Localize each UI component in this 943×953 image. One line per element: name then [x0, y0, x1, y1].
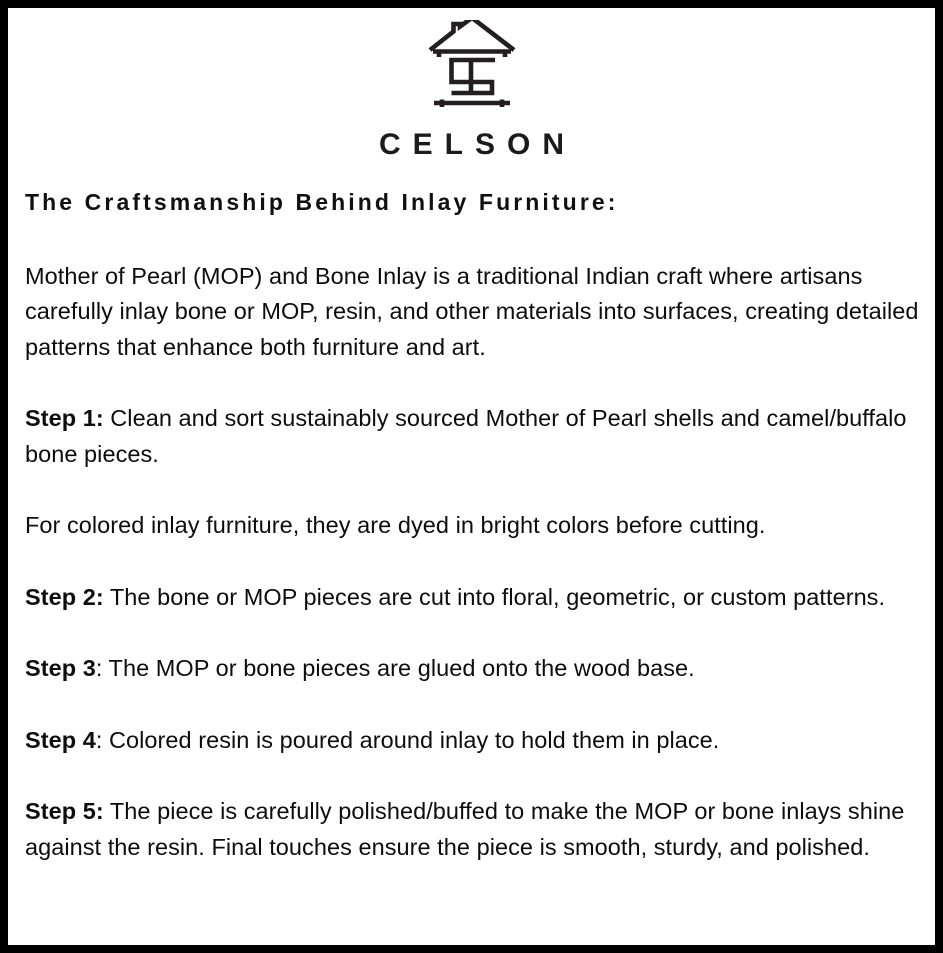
paragraph-text: For colored inlay furniture, they are dy…: [25, 512, 765, 538]
paragraph-text: : Colored resin is poured around inlay t…: [96, 727, 720, 753]
paragraph-lead: Step 4: [25, 727, 96, 753]
paragraph-colored-note: For colored inlay furniture, they are dy…: [25, 508, 920, 544]
paragraph-step-4: Step 4: Colored resin is poured around i…: [25, 723, 920, 759]
house-roof-monogram-icon: [426, 20, 518, 118]
paragraph-text: The bone or MOP pieces are cut into flor…: [104, 584, 885, 610]
page-title: The Craftsmanship Behind Inlay Furniture…: [17, 189, 926, 217]
paragraph-lead: Step 5:: [25, 798, 104, 824]
paragraph-step-3: Step 3: The MOP or bone pieces are glued…: [25, 651, 920, 687]
paragraph-intro: Mother of Pearl (MOP) and Bone Inlay is …: [25, 259, 920, 366]
paragraph-step-1: Step 1: Clean and sort sustainably sourc…: [25, 401, 920, 472]
paragraph-text: : The MOP or bone pieces are glued onto …: [96, 655, 695, 681]
brand-name: CELSON: [17, 130, 926, 160]
paragraph-step-5: Step 5: The piece is carefully polished/…: [25, 794, 920, 865]
article-body: Mother of Pearl (MOP) and Bone Inlay is …: [17, 259, 926, 866]
paragraph-text: Clean and sort sustainably sourced Mothe…: [25, 405, 907, 467]
poster-frame: CELSON The Craftsmanship Behind Inlay Fu…: [0, 0, 943, 953]
paragraph-text: Mother of Pearl (MOP) and Bone Inlay is …: [25, 263, 919, 360]
paragraph-text: The piece is carefully polished/buffed t…: [25, 798, 904, 860]
poster-content: CELSON The Craftsmanship Behind Inlay Fu…: [8, 8, 935, 945]
paragraph-lead: Step 2:: [25, 584, 104, 610]
paragraph-lead: Step 3: [25, 655, 96, 681]
paragraph-step-2: Step 2: The bone or MOP pieces are cut i…: [25, 580, 920, 616]
brand-block: CELSON: [17, 16, 926, 160]
paragraph-lead: Step 1:: [25, 405, 104, 431]
